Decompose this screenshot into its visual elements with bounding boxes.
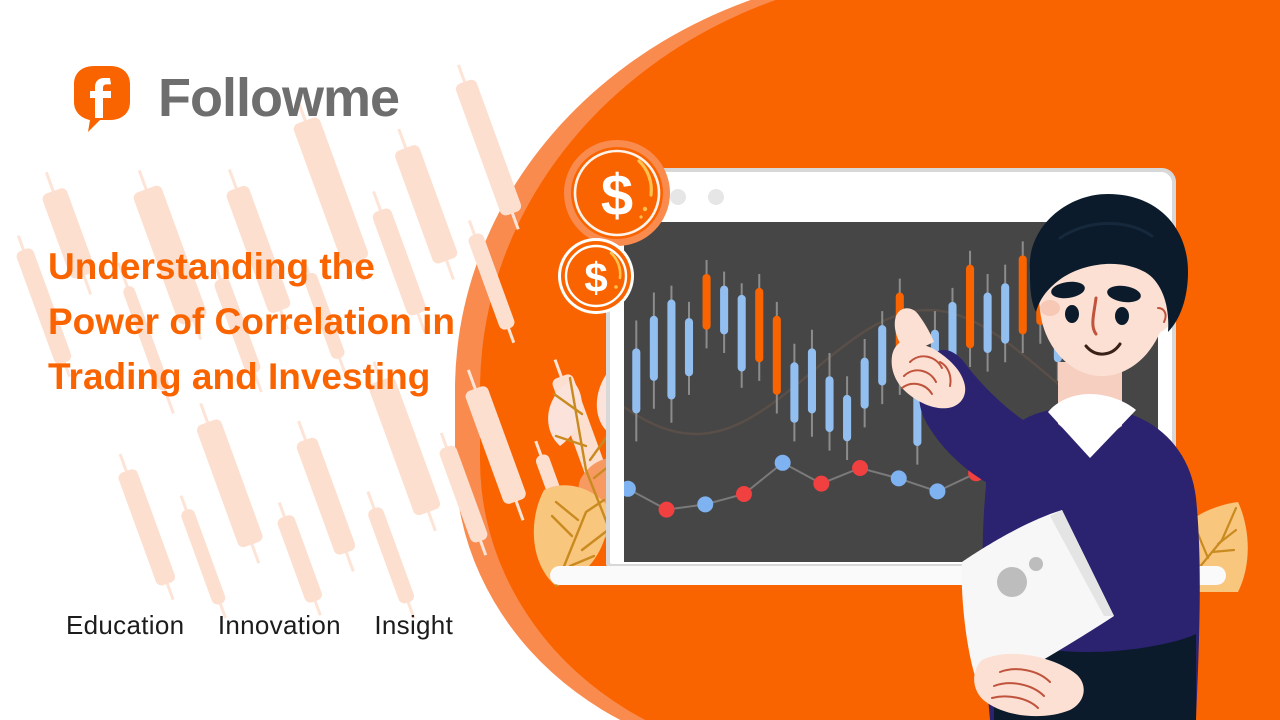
candlestick-10 <box>790 344 798 442</box>
svg-text:$: $ <box>584 254 607 301</box>
tagline-education: Education <box>66 610 184 640</box>
data-point-red <box>736 486 752 502</box>
followme-speech-bubble-f-icon <box>66 62 138 134</box>
data-point-red <box>813 476 829 492</box>
tagline-innovation: Innovation <box>218 610 341 640</box>
headline-line-3: Trading and Investing <box>48 350 568 405</box>
svg-text:$: $ <box>601 163 633 228</box>
analyst-character <box>890 186 1220 720</box>
headline-line-1: Understanding the <box>48 240 568 295</box>
page-title: Understanding the Power of Correlation i… <box>48 240 568 404</box>
data-point-blue <box>775 455 791 471</box>
candlestick-4 <box>685 302 693 395</box>
brand-logo[interactable]: Followme <box>66 62 399 134</box>
banner-canvas: Followme Understanding the Power of Corr… <box>0 0 1280 720</box>
candlestick-11 <box>808 330 816 437</box>
data-point-red <box>659 502 675 518</box>
candlestick-8 <box>755 274 763 381</box>
candlestick-3 <box>667 286 675 423</box>
candlestick-7 <box>738 283 746 388</box>
dollar-coin-large: $ <box>563 139 671 247</box>
candlestick-2 <box>650 293 658 409</box>
data-point-blue <box>624 481 636 497</box>
brand-wordmark: Followme <box>158 71 399 125</box>
candlestick-14 <box>861 339 869 427</box>
candlestick-1 <box>632 320 640 441</box>
data-point-red <box>852 460 868 476</box>
candlestick-12 <box>825 353 833 451</box>
tablet-camera-icon <box>997 567 1027 597</box>
candlestick-13 <box>843 376 851 460</box>
candlestick-15 <box>878 311 886 404</box>
character-eye-right <box>1115 307 1129 325</box>
candlestick-6 <box>720 272 728 353</box>
window-dot-3-icon[interactable] <box>708 189 724 205</box>
data-point-blue <box>697 496 713 512</box>
window-dot-2-icon[interactable] <box>670 189 686 205</box>
dollar-coin-small: $ <box>557 237 635 315</box>
tagline: Education Innovation Insight <box>66 610 453 641</box>
candlestick-5 <box>703 260 711 348</box>
tagline-insight: Insight <box>374 610 453 640</box>
headline-line-2: Power of Correlation in <box>48 295 568 350</box>
character-eye-left <box>1065 305 1079 323</box>
